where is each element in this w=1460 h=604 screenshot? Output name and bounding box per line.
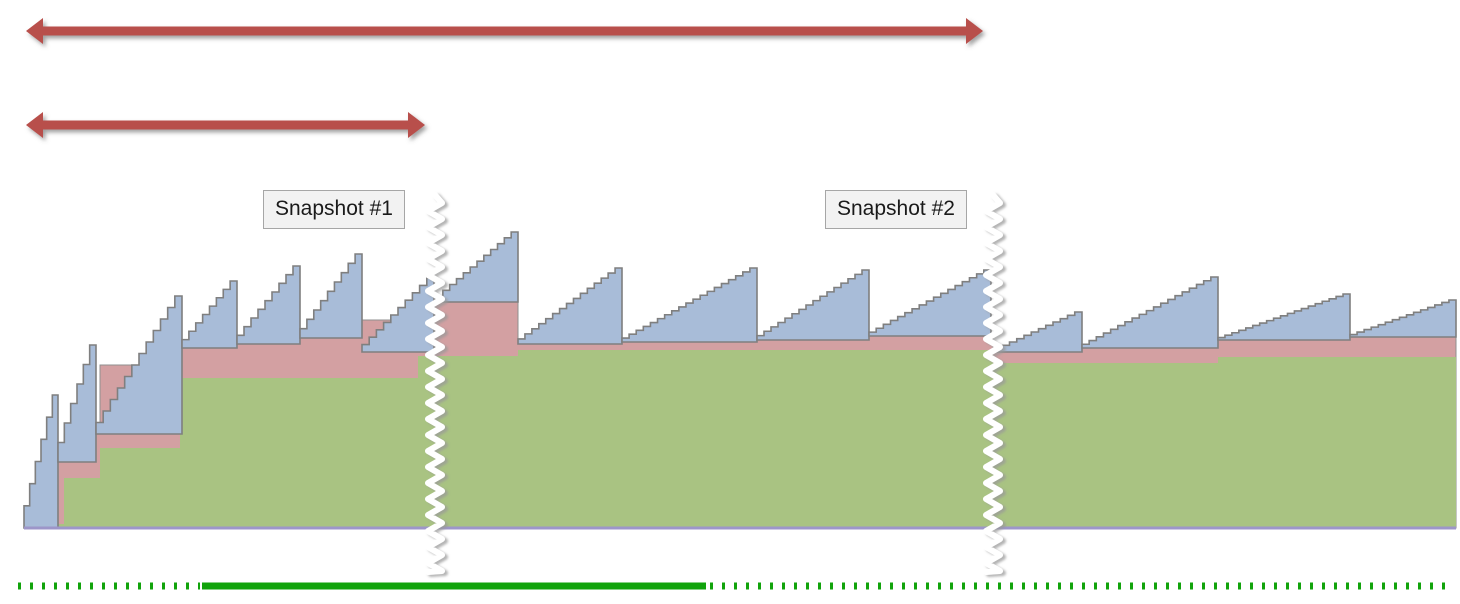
snapshot-1-label[interactable]: Snapshot #1	[263, 190, 405, 229]
sawtooth-ramp-7	[362, 278, 434, 352]
backup-timeline-chart	[0, 0, 1460, 604]
diagram-canvas: Snapshot #1 Snapshot #2	[0, 0, 1460, 604]
interval-arrows	[26, 18, 983, 138]
sawtooth-ramp-10	[622, 268, 757, 342]
sawtooth-ramp-9	[518, 268, 622, 344]
sawtooth-ramp-16	[1350, 300, 1456, 337]
sawtooth-ramp-13	[995, 312, 1082, 352]
sawtooth-ramp-11	[757, 270, 869, 340]
sawtooth-ramp-6	[300, 254, 362, 338]
sawtooth-ramp-8	[436, 232, 518, 302]
interval-arrow-first	[26, 112, 425, 138]
sawtooth-ramp-4	[182, 281, 237, 348]
sawtooth-ramp-1	[24, 395, 58, 528]
interval-arrow-full	[26, 18, 983, 44]
snapshot-2-label[interactable]: Snapshot #2	[825, 190, 967, 229]
sawtooth-ramp-12	[869, 270, 991, 336]
sawtooth-ramp-15	[1218, 294, 1350, 340]
sawtooth-ramp-14	[1082, 277, 1218, 348]
sawtooth-ramp-2	[58, 345, 96, 462]
sawtooth-ramp-5	[237, 266, 300, 344]
